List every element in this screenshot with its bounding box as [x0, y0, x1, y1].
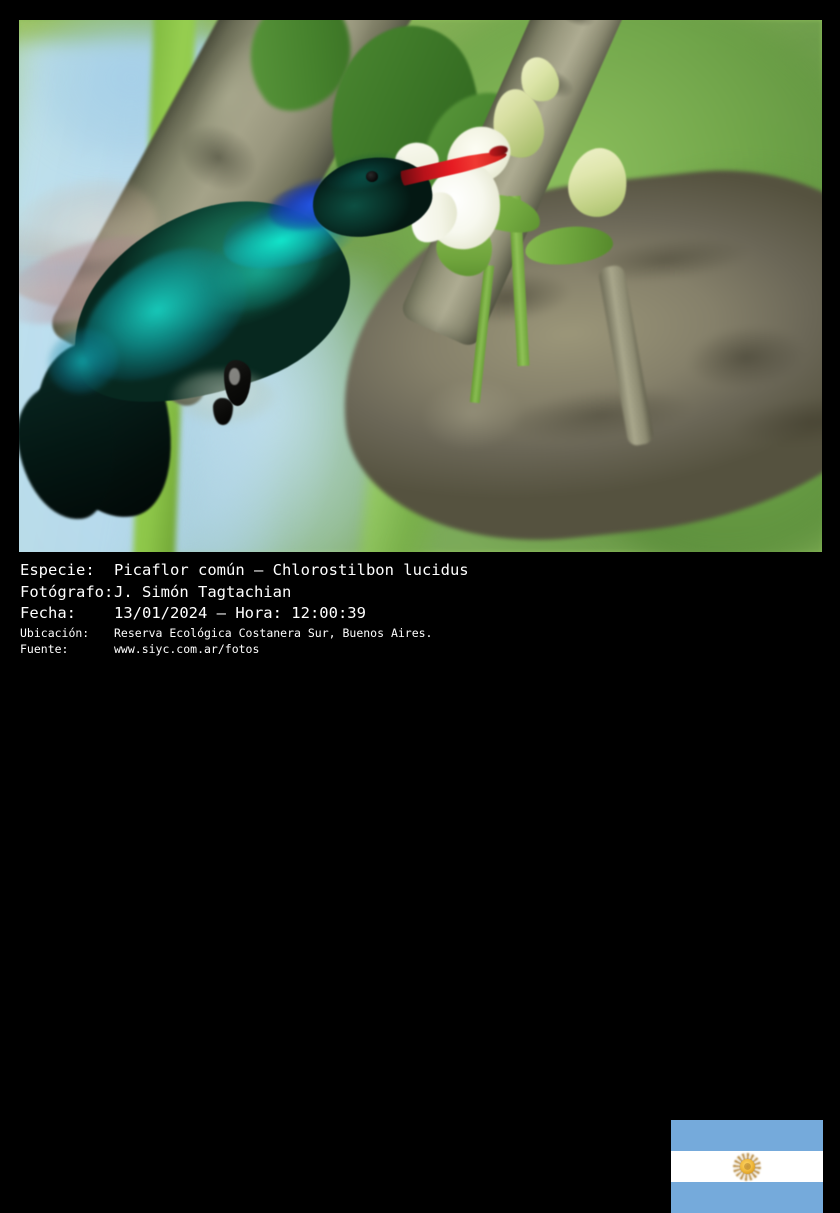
caption-value-fecha: 13/01/2024 – Hora: 12:00:39	[114, 603, 366, 625]
hummingbird	[19, 20, 822, 552]
caption-value-especie: Picaflor común – Chlorostilbon lucidus	[114, 560, 469, 582]
caption-row-fuente: Fuente: www.siyc.com.ar/fotos	[20, 641, 660, 658]
flag-band-top	[671, 1120, 823, 1151]
caption-label-fotografo: Fotógrafo:	[20, 582, 114, 604]
argentina-flag-icon	[671, 1120, 823, 1213]
flag-band-bottom	[671, 1182, 823, 1213]
caption-label-ubicacion: Ubicación:	[20, 625, 114, 642]
caption-text-block: Especie: Picaflor común – Chlorostilbon …	[20, 560, 660, 658]
sun-face	[744, 1163, 751, 1170]
caption-label-fuente: Fuente:	[20, 641, 114, 658]
caption-row-especie: Especie: Picaflor común – Chlorostilbon …	[20, 560, 660, 582]
caption-value-fotografo: J. Simón Tagtachian	[114, 582, 291, 604]
caption-value-fuente: www.siyc.com.ar/fotos	[114, 641, 259, 658]
photo-canvas	[19, 20, 822, 552]
caption-value-ubicacion: Reserva Ecológica Costanera Sur, Buenos …	[114, 625, 433, 642]
caption-row-fecha: Fecha: 13/01/2024 – Hora: 12:00:39	[20, 603, 660, 625]
photograph	[19, 20, 822, 552]
caption-row-ubicacion: Ubicación: Reserva Ecológica Costanera S…	[20, 625, 660, 642]
bird-eye	[366, 171, 378, 182]
caption-label-fecha: Fecha:	[20, 603, 114, 625]
caption-bar: Especie: Picaflor común – Chlorostilbon …	[0, 552, 840, 668]
sun-of-may-icon	[733, 1153, 761, 1181]
photo-card: Especie: Picaflor común – Chlorostilbon …	[0, 0, 840, 668]
caption-row-fotografo: Fotógrafo: J. Simón Tagtachian	[20, 582, 660, 604]
caption-label-especie: Especie:	[20, 560, 114, 582]
